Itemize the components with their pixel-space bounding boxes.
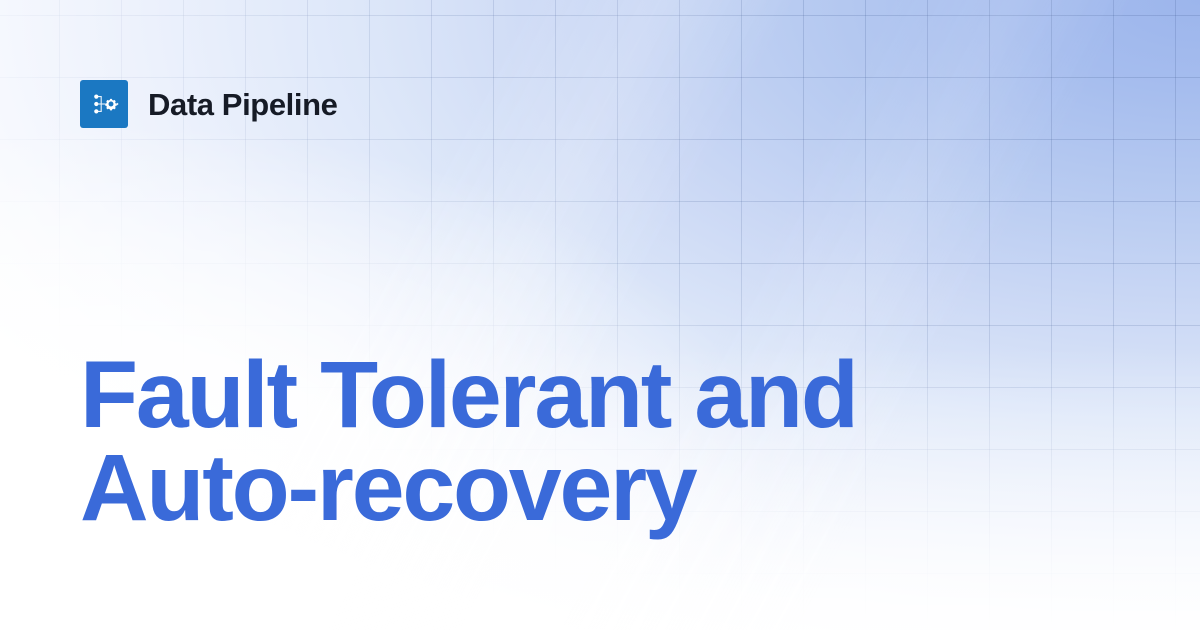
data-pipeline-nodes-gear-icon bbox=[80, 80, 128, 128]
page-title-line-1: Fault Tolerant and bbox=[80, 349, 1080, 442]
hero-banner: Data Pipeline Fault Tolerant and Auto-re… bbox=[0, 0, 1200, 630]
brand-name: Data Pipeline bbox=[148, 89, 337, 120]
page-title-line-2: Auto-recovery bbox=[80, 442, 1080, 535]
brand-lockup: Data Pipeline bbox=[80, 80, 337, 128]
content-layer: Data Pipeline Fault Tolerant and Auto-re… bbox=[0, 0, 1200, 630]
page-title: Fault Tolerant and Auto-recovery bbox=[80, 349, 1080, 535]
